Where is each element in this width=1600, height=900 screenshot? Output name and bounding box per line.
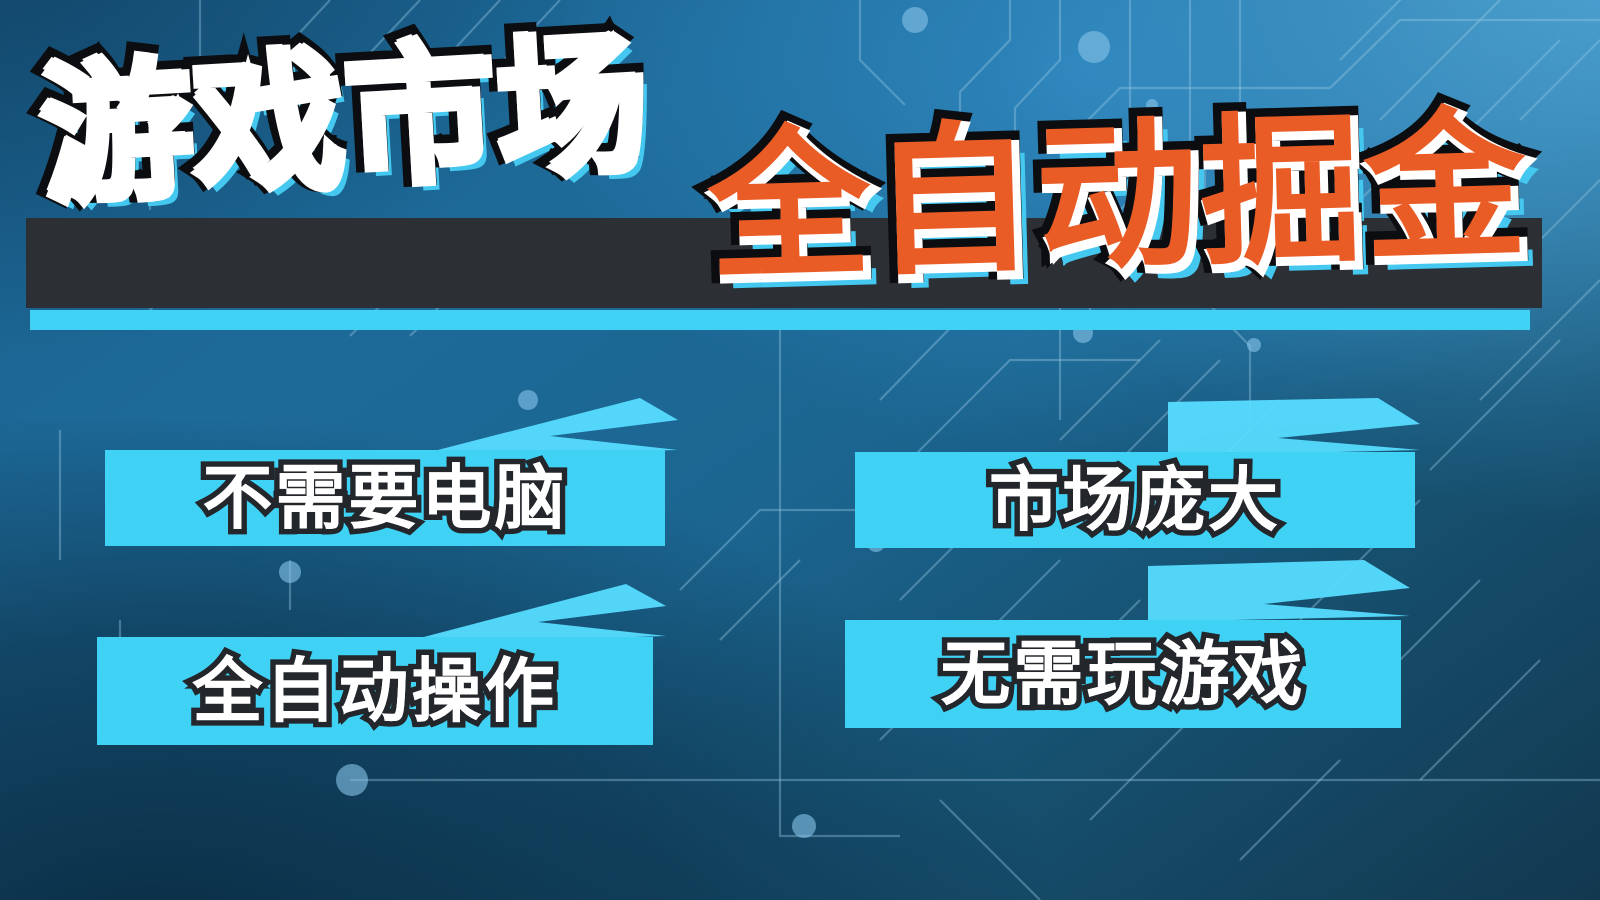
- feature-label: 全自动操作: [193, 656, 558, 726]
- promo-banner: 游戏市场 游戏市场 游戏市场 游戏市场 全自动掘金 全自动掘金 全自动掘金 全自…: [0, 0, 1600, 900]
- feature-box-no-computer[interactable]: 不需要电脑 不需要电脑: [105, 450, 665, 546]
- headline-primary-text: 游戏市场: [33, 15, 649, 217]
- feature-box-fully-automatic[interactable]: 全自动操作 全自动操作: [97, 637, 653, 745]
- feature-box-no-gameplay[interactable]: 无需玩游戏 无需玩游戏: [845, 620, 1401, 728]
- headline-secondary-text: 全自动掘金: [706, 95, 1531, 299]
- headline-primary: 游戏市场 游戏市场 游戏市场 游戏市场: [34, 24, 649, 208]
- headline-underline: [30, 310, 1530, 330]
- feature-box-large-market[interactable]: 市场庞大 市场庞大: [855, 452, 1415, 548]
- headline-secondary: 全自动掘金 全自动掘金 全自动掘金 全自动掘金: [706, 105, 1530, 290]
- feature-label: 无需玩游戏: [941, 639, 1306, 709]
- feature-label: 不需要电脑: [203, 463, 568, 533]
- feature-label: 市场庞大: [989, 465, 1281, 535]
